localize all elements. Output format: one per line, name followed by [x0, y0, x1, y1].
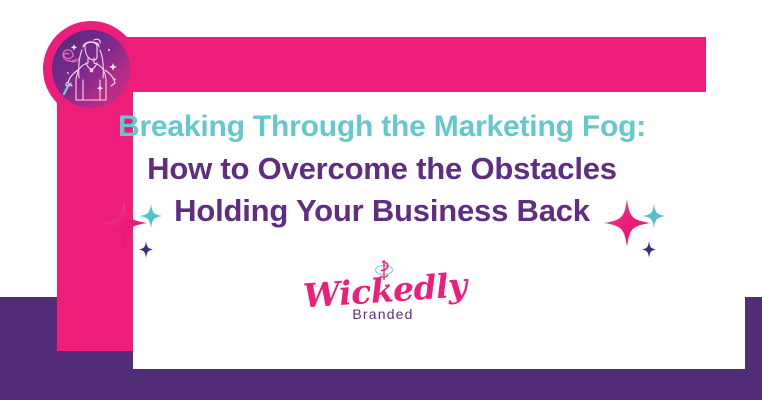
avatar [43, 21, 139, 117]
headline-line-3: Holding Your Business Back [76, 195, 688, 226]
woman-with-magic-wand-illustration-icon [52, 30, 130, 108]
headline-line-1: Breaking Through the Marketing Fog: [76, 112, 688, 153]
slide-canvas: Breaking Through the Marketing Fog: How … [0, 0, 762, 400]
headline-line-2: How to Overcome the Obstacles [76, 153, 688, 195]
headline-block: Breaking Through the Marketing Fog: How … [76, 112, 688, 226]
brand-logo: Wickedly Branded [303, 257, 463, 335]
brand-sub-name: Branded [303, 306, 463, 322]
